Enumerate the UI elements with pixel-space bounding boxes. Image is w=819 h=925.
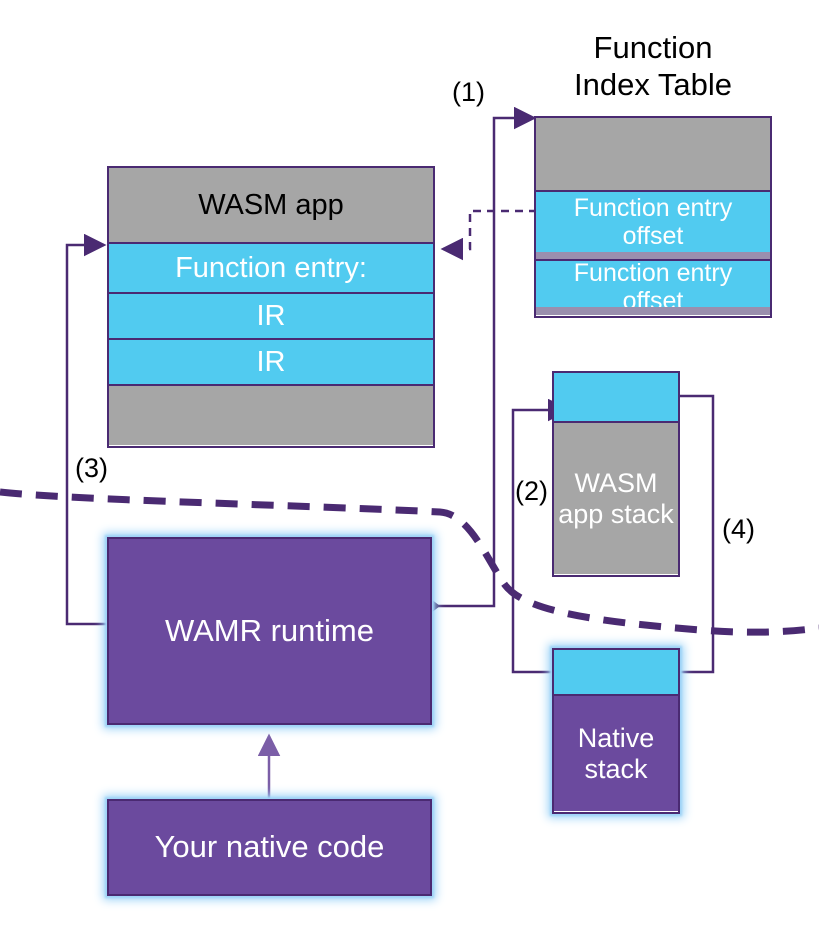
index-table-row-empty <box>536 118 770 190</box>
wasm-app-function-entry-row[interactable]: Function entry: <box>109 242 433 292</box>
wasm-app-title-row: WASM app <box>109 168 433 242</box>
function-index-table: Function entry offset Function entry off… <box>534 116 772 318</box>
wasm-app-stack-header[interactable] <box>554 373 678 421</box>
native-stack-header[interactable] <box>554 650 678 694</box>
wasm-app-block: WASM app Function entry: IR IR <box>107 166 435 448</box>
step-label-3: (3) <box>75 455 108 482</box>
step-label-2: (2) <box>515 478 548 505</box>
wasm-app-ir-row-1[interactable]: IR <box>109 292 433 338</box>
connector-3-runtime-to-wasm-app <box>67 245 107 624</box>
your-native-code-block[interactable]: Your native code <box>107 799 432 896</box>
index-table-row-offset-1[interactable]: Function entry offset <box>536 190 770 252</box>
index-table-row-offset-2[interactable]: Function entry offset <box>536 259 770 313</box>
wamr-runtime-block[interactable]: WAMR runtime <box>107 537 432 725</box>
connector-1-to-index-table <box>494 118 534 301</box>
step-label-4: (4) <box>722 516 755 543</box>
wasm-app-empty-row <box>109 384 433 445</box>
index-table-separator-2 <box>536 307 770 315</box>
native-stack-body: Native stack <box>554 694 678 811</box>
wasm-app-ir-row-2[interactable]: IR <box>109 338 433 384</box>
wasm-app-stack-body: WASM app stack <box>554 421 678 574</box>
wasm-app-stack-block: WASM app stack <box>552 371 680 577</box>
native-stack-block: Native stack <box>552 648 680 814</box>
function-index-table-title: Function Index Table <box>534 30 772 103</box>
step-label-1: (1) <box>452 79 485 106</box>
index-table-separator-1 <box>536 252 770 259</box>
diagram-canvas: Function Index Table Function entry offs… <box>0 0 819 925</box>
